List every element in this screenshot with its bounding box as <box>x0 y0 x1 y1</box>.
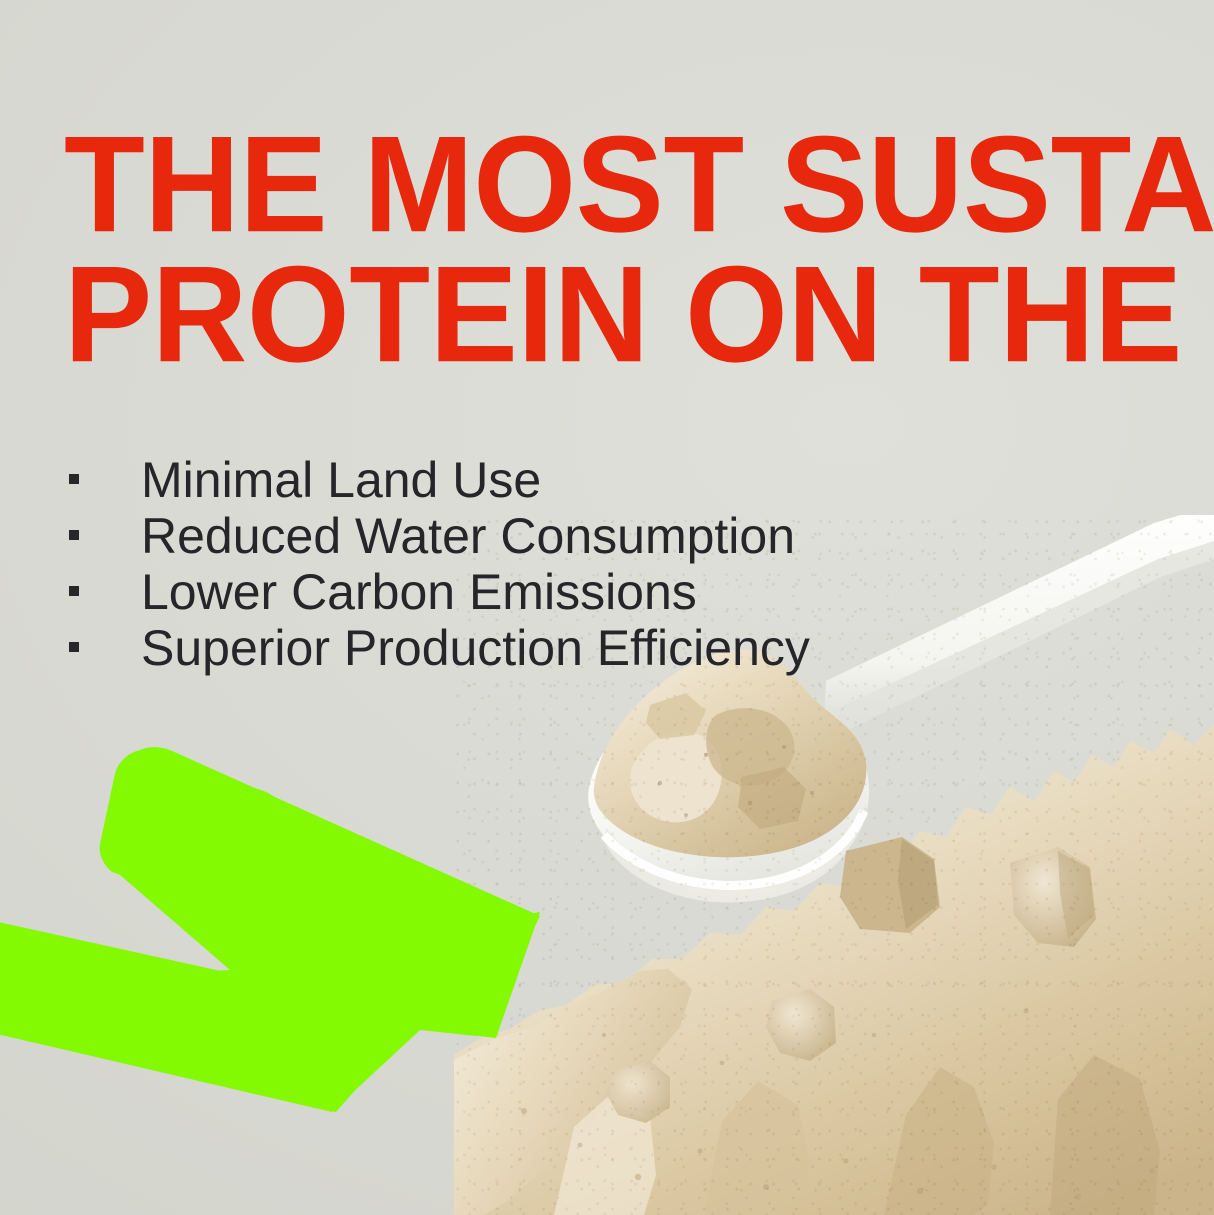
benefits-list: Minimal Land Use Reduced Water Consumpti… <box>64 452 824 676</box>
square-bullet-icon <box>69 642 79 652</box>
list-item: Superior Production Efficiency <box>64 620 824 676</box>
list-item-label: Minimal Land Use <box>141 452 541 508</box>
list-item-label: Lower Carbon Emissions <box>141 564 697 620</box>
headline-line-2: PROTEIN ON THE PLANET <box>64 250 1168 380</box>
list-item: Lower Carbon Emissions <box>64 564 824 620</box>
square-bullet-icon <box>69 586 79 596</box>
page-title: THE MOST SUSTAINABLE PROTEIN ON THE PLAN… <box>64 120 1168 377</box>
list-item: Reduced Water Consumption <box>64 508 824 564</box>
list-item-label: Superior Production Efficiency <box>141 620 810 676</box>
list-item: Minimal Land Use <box>64 452 824 508</box>
square-bullet-icon <box>69 530 79 540</box>
list-item-label: Reduced Water Consumption <box>141 508 795 564</box>
headline-line-1: THE MOST SUSTAINABLE <box>64 120 1168 250</box>
square-bullet-icon <box>69 474 79 484</box>
marketing-banner: THE MOST SUSTAINABLE PROTEIN ON THE PLAN… <box>0 0 1214 1215</box>
